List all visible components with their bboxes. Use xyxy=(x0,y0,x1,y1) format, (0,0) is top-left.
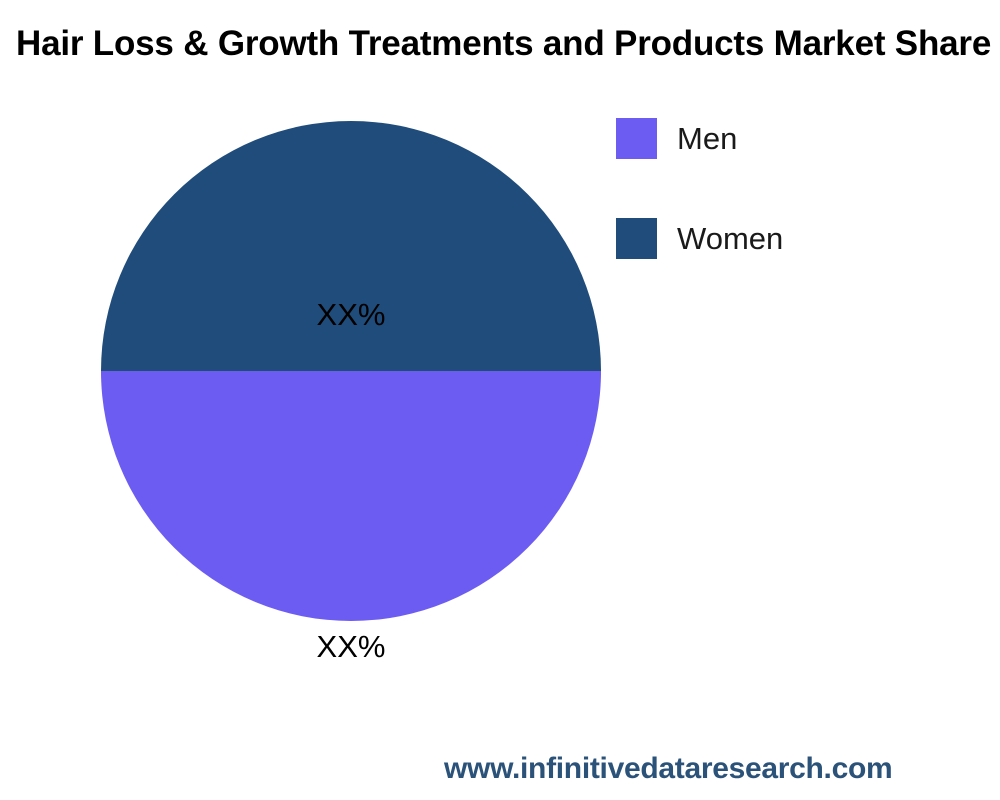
pie-chart: XX% XX% xyxy=(100,120,602,622)
legend-label-women: Women xyxy=(677,218,783,259)
legend-swatch-women-icon xyxy=(616,218,657,259)
pie-slice-label-men: XX% xyxy=(100,629,602,665)
pie-svg xyxy=(100,120,602,622)
footer-source-url[interactable]: www.infinitivedataresearch.com xyxy=(444,752,892,786)
legend-swatch-men-icon xyxy=(616,118,657,159)
legend-label-men: Men xyxy=(677,118,737,159)
chart-legend: Men Women xyxy=(616,118,986,318)
legend-item-women[interactable]: Women xyxy=(616,218,986,258)
chart-canvas: Hair Loss & Growth Treatments and Produc… xyxy=(0,0,1000,800)
pie-slice-women[interactable] xyxy=(101,121,601,371)
legend-item-men[interactable]: Men xyxy=(616,118,986,158)
pie-slice-men[interactable] xyxy=(101,371,601,621)
chart-title: Hair Loss & Growth Treatments and Produc… xyxy=(16,22,1000,66)
pie-slice-label-women: XX% xyxy=(100,297,602,333)
